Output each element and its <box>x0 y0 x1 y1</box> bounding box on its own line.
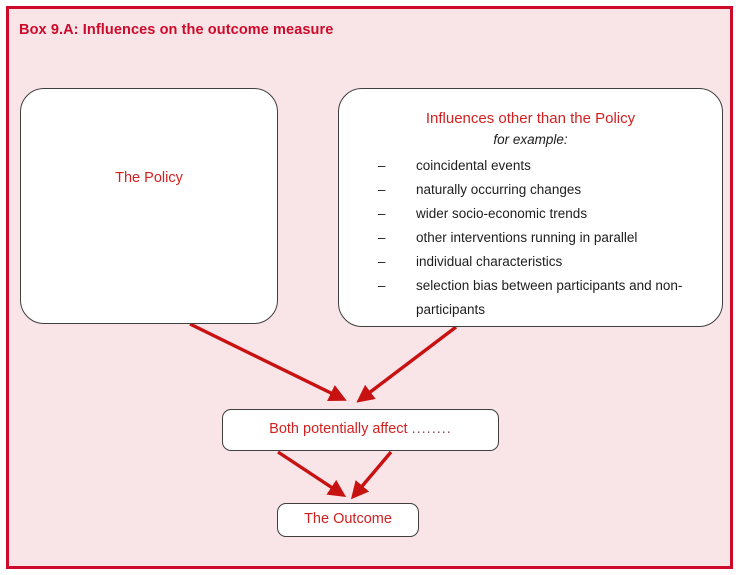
dash-marker: – <box>378 178 416 202</box>
node-the-policy: The Policy <box>20 88 278 324</box>
list-item-label: naturally occurring changes <box>416 178 710 202</box>
list-item-label: individual characteristics <box>416 250 710 274</box>
node-influences: Influences other than the Policy for exa… <box>338 88 723 327</box>
list-item-label: coincidental events <box>416 154 710 178</box>
list-item-label: selection bias between participants and … <box>416 274 710 322</box>
list-item: – individual characteristics <box>378 250 710 274</box>
node-both-text: Both potentially affect <box>269 421 411 437</box>
list-item: – wider socio-economic trends <box>378 202 710 226</box>
dash-marker: – <box>378 226 416 250</box>
node-influences-heading: Influences other than the Policy <box>339 110 722 127</box>
list-item: – coincidental events <box>378 154 710 178</box>
node-the-outcome-label: The Outcome <box>278 511 418 527</box>
node-the-policy-label: The Policy <box>21 170 277 186</box>
page-title: Box 9.A: Influences on the outcome measu… <box>19 22 333 38</box>
diagram-canvas: Box 9.A: Influences on the outcome measu… <box>0 0 739 575</box>
dash-marker: – <box>378 202 416 226</box>
list-item: – naturally occurring changes <box>378 178 710 202</box>
node-both-potentially-affect: Both potentially affect ........ <box>222 409 499 451</box>
influences-list: – coincidental events – naturally occurr… <box>378 154 710 322</box>
node-influences-subheading: for example: <box>339 132 722 147</box>
list-item: – selection bias between participants an… <box>378 274 710 322</box>
list-item-label: other interventions running in parallel <box>416 226 710 250</box>
list-item: – other interventions running in paralle… <box>378 226 710 250</box>
node-the-outcome: The Outcome <box>277 503 419 537</box>
dash-marker: – <box>378 250 416 274</box>
node-both-dots: ........ <box>412 421 452 437</box>
dash-marker: – <box>378 274 416 298</box>
node-both-label: Both potentially affect ........ <box>223 421 498 437</box>
list-item-label: wider socio-economic trends <box>416 202 710 226</box>
dash-marker: – <box>378 154 416 178</box>
